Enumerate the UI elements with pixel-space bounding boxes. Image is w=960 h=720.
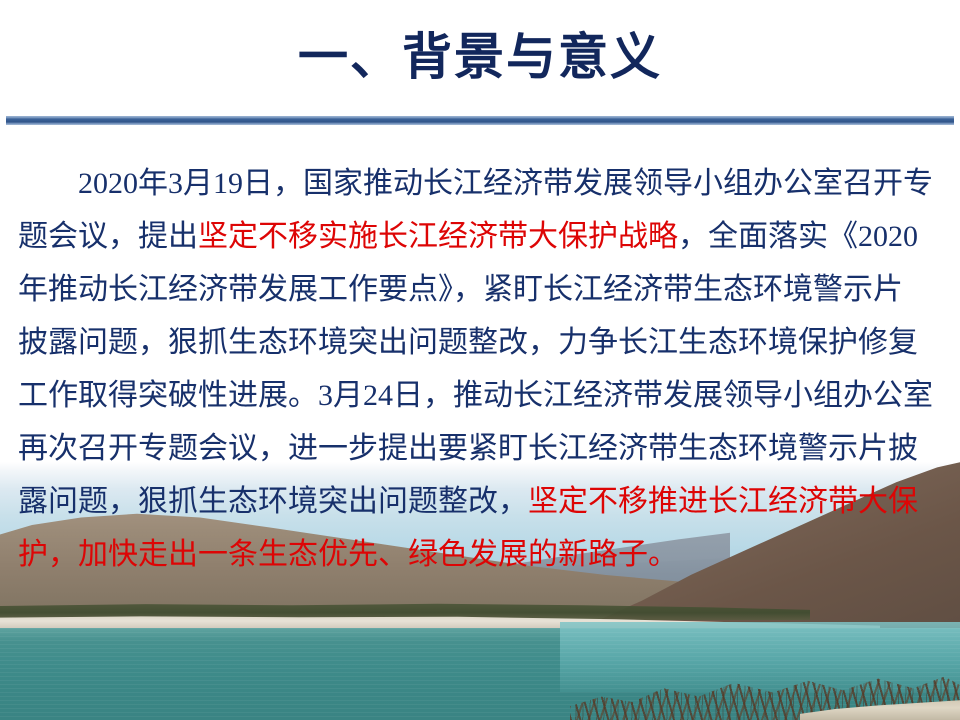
text-run: 露问题，狠抓生态环境突出问题整改， xyxy=(18,485,528,518)
text-run: 2020年3月19日，国家推动长江经济带发展领导小组办公室召开专 xyxy=(18,167,933,200)
body-line: 再次召开专题会议，进一步提出要紧盯长江经济带生态环境警示片披 xyxy=(18,422,948,475)
highlighted-text-run: 护，加快走出一条生态优先、绿色发展的新路子。 xyxy=(18,538,678,571)
text-run: 年推动长江经济带发展工作要点》，紧盯长江经济带生态环境警示片 xyxy=(18,273,903,306)
highlighted-text-run: 坚定不移推进长江经济带大保 xyxy=(528,485,918,518)
body-line: 护，加快走出一条生态优先、绿色发展的新路子。 xyxy=(18,528,948,581)
text-run: 披露问题，狠抓生态环境突出问题整改，力争长江生态环境保护修复 xyxy=(18,326,918,359)
highlighted-text-run: 坚定不移实施长江经济带大保护战略 xyxy=(198,220,678,253)
body-line: 年推动长江经济带发展工作要点》，紧盯长江经济带生态环境警示片 xyxy=(18,263,948,316)
text-run: 题会议，提出 xyxy=(18,220,198,253)
title-block: 一、背景与意义 xyxy=(0,26,960,88)
title-divider xyxy=(6,116,954,125)
page-title: 一、背景与意义 xyxy=(298,26,662,88)
body-text: 2020年3月19日，国家推动长江经济带发展领导小组办公室召开专题会议，提出坚定… xyxy=(18,157,948,581)
body-line: 工作取得突破性进展。3月24日，推动长江经济带发展领导小组办公室 xyxy=(18,369,948,422)
text-run: ，全面落实《2020 xyxy=(678,220,918,253)
body-line: 2020年3月19日，国家推动长江经济带发展领导小组办公室召开专 xyxy=(18,157,948,210)
text-run: 再次召开专题会议，进一步提出要紧盯长江经济带生态环境警示片披 xyxy=(18,432,918,465)
body-line: 题会议，提出坚定不移实施长江经济带大保护战略，全面落实《2020 xyxy=(18,210,948,263)
body-line: 露问题，狠抓生态环境突出问题整改，坚定不移推进长江经济带大保 xyxy=(18,475,948,528)
presentation-slide: 一、背景与意义 2020年3月19日，国家推动长江经济带发展领导小组办公室召开专… xyxy=(0,0,960,720)
body-line: 披露问题，狠抓生态环境突出问题整改，力争长江生态环境保护修复 xyxy=(18,316,948,369)
text-run: 工作取得突破性进展。3月24日，推动长江经济带发展领导小组办公室 xyxy=(18,379,933,412)
